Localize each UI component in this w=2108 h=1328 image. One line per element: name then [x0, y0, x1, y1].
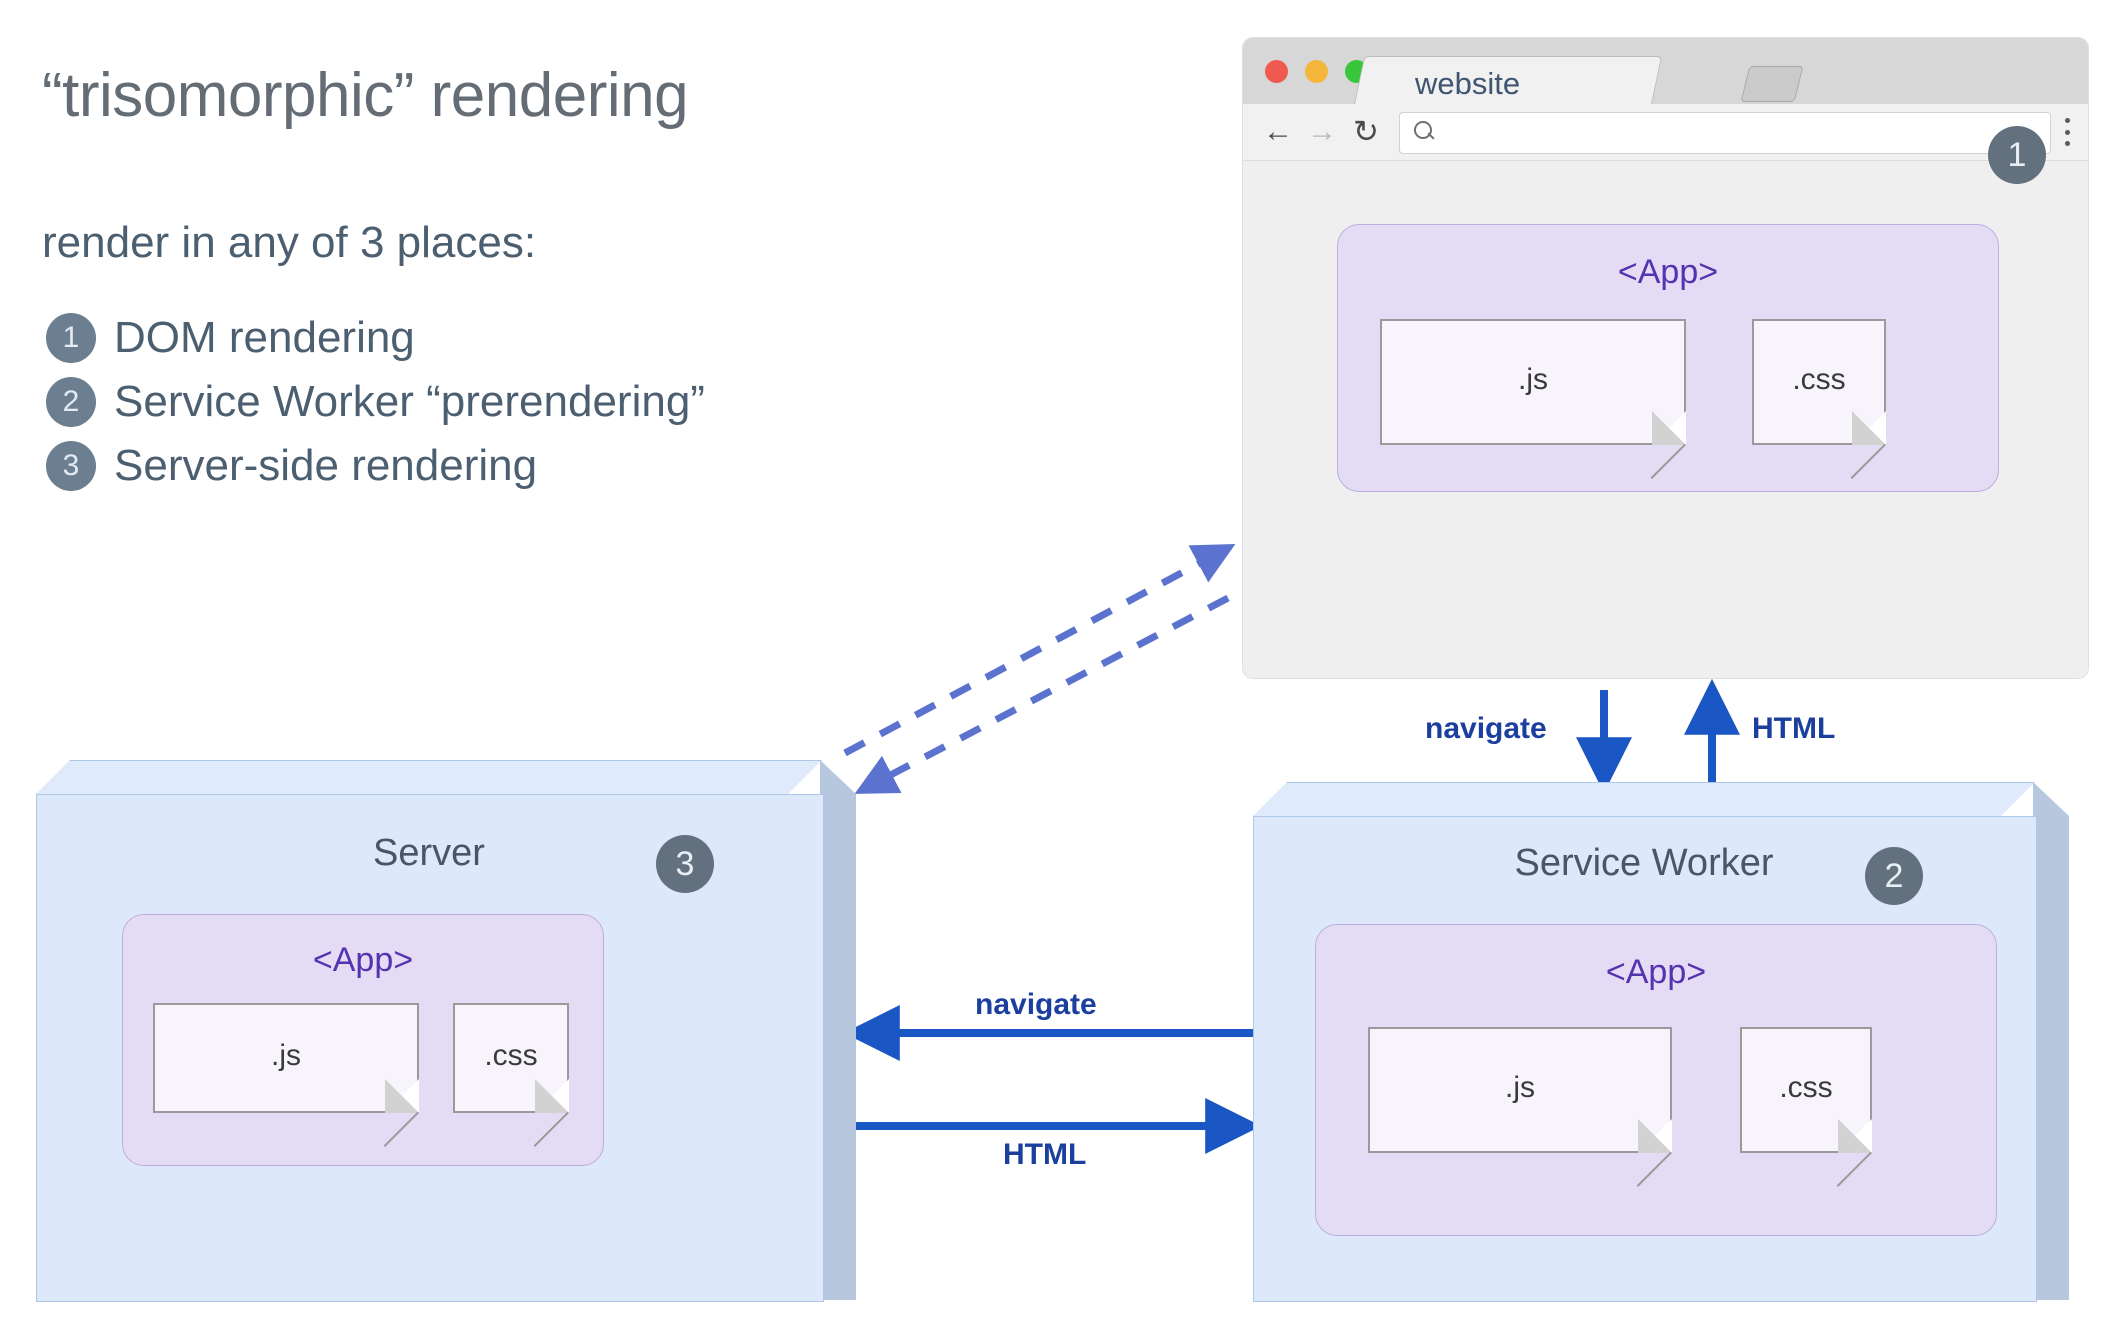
server-box: Server 3 <App> .js .css [36, 760, 858, 1300]
new-tab-button[interactable] [1741, 66, 1804, 102]
minimize-window-icon[interactable] [1305, 60, 1328, 83]
app-panel: <App> .js .css [122, 914, 604, 1166]
arrow-label-navigate-left: navigate [975, 988, 1097, 1022]
forward-icon[interactable]: → [1305, 116, 1339, 148]
browser-tab-label: website [1415, 66, 1520, 102]
page-subtitle: render in any of 3 places: [42, 218, 536, 268]
list-number-badge: 2 [46, 377, 96, 427]
dashed-arrow-browser-to-server [862, 598, 1228, 790]
browser-tab-bar: website [1243, 38, 2088, 104]
list-item: 2 Service Worker “prerendering” [46, 377, 705, 427]
status-badge: 1 [1988, 126, 2046, 184]
sw-box-top-face [1253, 782, 2037, 818]
file-css: .css [1740, 1027, 1872, 1153]
reload-icon[interactable]: ↻ [1349, 116, 1383, 148]
server-box-top-face [36, 760, 824, 796]
app-panel: <App> .js .css [1337, 224, 1999, 492]
file-label: .css [1742, 1071, 1870, 1105]
file-css: .css [453, 1003, 569, 1113]
list-item-label: DOM rendering [114, 313, 415, 363]
file-js: .js [1368, 1027, 1672, 1153]
file-label: .css [1754, 363, 1884, 397]
arrow-label-html-up: HTML [1752, 712, 1835, 746]
file-js: .js [153, 1003, 419, 1113]
file-label: .js [1370, 1071, 1670, 1105]
back-icon[interactable]: ← [1261, 116, 1295, 148]
status-badge: 2 [1865, 847, 1923, 905]
list-item-label: Service Worker “prerendering” [114, 377, 705, 427]
close-window-icon[interactable] [1265, 60, 1288, 83]
file-label: .js [1382, 363, 1684, 397]
window-traffic-lights [1265, 60, 1368, 83]
status-badge: 3 [656, 835, 714, 893]
app-panel-title: <App> [1338, 253, 1998, 292]
dashed-arrow-server-to-browser [845, 548, 1228, 753]
list-item: 3 Server-side rendering [46, 441, 537, 491]
overflow-menu-icon[interactable] [2064, 118, 2070, 146]
app-panel-title: <App> [123, 941, 603, 980]
arrow-label-navigate-down: navigate [1425, 712, 1547, 746]
list-item: 1 DOM rendering [46, 313, 415, 363]
list-item-label: Server-side rendering [114, 441, 537, 491]
page-title: “trisomorphic” rendering [42, 60, 688, 131]
service-worker-box: Service Worker 2 <App> .js .css [1253, 782, 2071, 1300]
diagram-canvas: “trisomorphic” rendering render in any o… [0, 0, 2108, 1328]
browser-window: website ← → ↻ 1 <App> .js .css [1243, 38, 2088, 678]
arrow-label-html-right: HTML [1003, 1138, 1086, 1172]
list-number-badge: 3 [46, 441, 96, 491]
file-js: .js [1380, 319, 1686, 445]
address-bar[interactable] [1399, 112, 2051, 154]
app-panel: <App> .js .css [1315, 924, 1997, 1236]
browser-toolbar: ← → ↻ [1243, 104, 2088, 161]
app-panel-title: <App> [1316, 953, 1996, 992]
search-icon [1414, 121, 1432, 139]
file-label: .js [155, 1039, 417, 1073]
sw-box-side-face [2033, 782, 2071, 1302]
server-box-side-face [820, 760, 858, 1302]
file-label: .css [455, 1039, 567, 1073]
file-css: .css [1752, 319, 1886, 445]
list-number-badge: 1 [46, 313, 96, 363]
